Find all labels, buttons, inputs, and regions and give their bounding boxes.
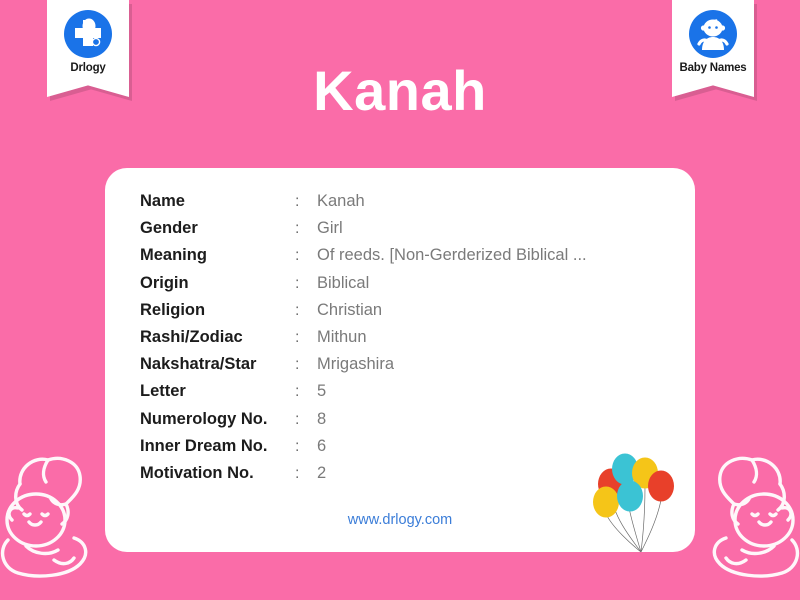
info-value: 8 bbox=[317, 410, 326, 429]
info-separator: : bbox=[295, 465, 317, 483]
info-label: Religion bbox=[140, 301, 295, 320]
info-row: Gender:Girl bbox=[140, 219, 660, 246]
info-row: Inner Dream No.:6 bbox=[140, 437, 660, 464]
info-value: Christian bbox=[317, 301, 382, 320]
info-row: Meaning:Of reeds. [Non-Gerderized Biblic… bbox=[140, 246, 660, 273]
info-row: Nakshatra/Star:Mrigashira bbox=[140, 355, 660, 382]
name-details-table: Name:KanahGender:GirlMeaning:Of reeds. [… bbox=[140, 192, 660, 491]
info-label: Origin bbox=[140, 274, 295, 293]
info-row: Name:Kanah bbox=[140, 192, 660, 219]
page-title: Kanah bbox=[0, 63, 800, 119]
info-label: Meaning bbox=[140, 246, 295, 265]
mother-and-baby-outline-icon-left bbox=[0, 442, 106, 592]
info-value: Girl bbox=[317, 219, 343, 238]
info-separator: : bbox=[295, 193, 317, 211]
baby-avatar-logo-icon bbox=[688, 9, 738, 59]
info-row: Origin:Biblical bbox=[140, 274, 660, 301]
info-separator: : bbox=[295, 411, 317, 429]
info-value: Kanah bbox=[317, 192, 365, 211]
info-separator: : bbox=[295, 438, 317, 456]
info-separator: : bbox=[295, 275, 317, 293]
name-details-card: Name:KanahGender:GirlMeaning:Of reeds. [… bbox=[105, 168, 695, 552]
website-url[interactable]: www.drlogy.com bbox=[105, 512, 695, 528]
info-separator: : bbox=[295, 356, 317, 374]
info-label: Letter bbox=[140, 382, 295, 401]
info-label: Inner Dream No. bbox=[140, 437, 295, 456]
mother-and-baby-outline-icon-right bbox=[694, 442, 800, 592]
info-label: Numerology No. bbox=[140, 410, 295, 429]
info-value: Of reeds. [Non-Gerderized Biblical ... bbox=[317, 246, 587, 265]
info-separator: : bbox=[295, 247, 317, 265]
info-separator: : bbox=[295, 383, 317, 401]
drlogy-medical-cross-logo-icon bbox=[63, 9, 113, 59]
info-label: Nakshatra/Star bbox=[140, 355, 295, 374]
info-label: Gender bbox=[140, 219, 295, 238]
info-row: Rashi/Zodiac:Mithun bbox=[140, 328, 660, 355]
info-label: Motivation No. bbox=[140, 464, 295, 483]
info-value: 5 bbox=[317, 382, 326, 401]
info-separator: : bbox=[295, 302, 317, 320]
info-label: Rashi/Zodiac bbox=[140, 328, 295, 347]
info-row: Motivation No.:2 bbox=[140, 464, 660, 491]
info-row: Letter:5 bbox=[140, 382, 660, 409]
info-row: Numerology No.:8 bbox=[140, 410, 660, 437]
info-value: Mrigashira bbox=[317, 355, 394, 374]
info-value: Mithun bbox=[317, 328, 367, 347]
info-label: Name bbox=[140, 192, 295, 211]
info-separator: : bbox=[295, 329, 317, 347]
info-value: 6 bbox=[317, 437, 326, 456]
info-value: 2 bbox=[317, 464, 326, 483]
info-separator: : bbox=[295, 220, 317, 238]
info-value: Biblical bbox=[317, 274, 369, 293]
info-row: Religion:Christian bbox=[140, 301, 660, 328]
